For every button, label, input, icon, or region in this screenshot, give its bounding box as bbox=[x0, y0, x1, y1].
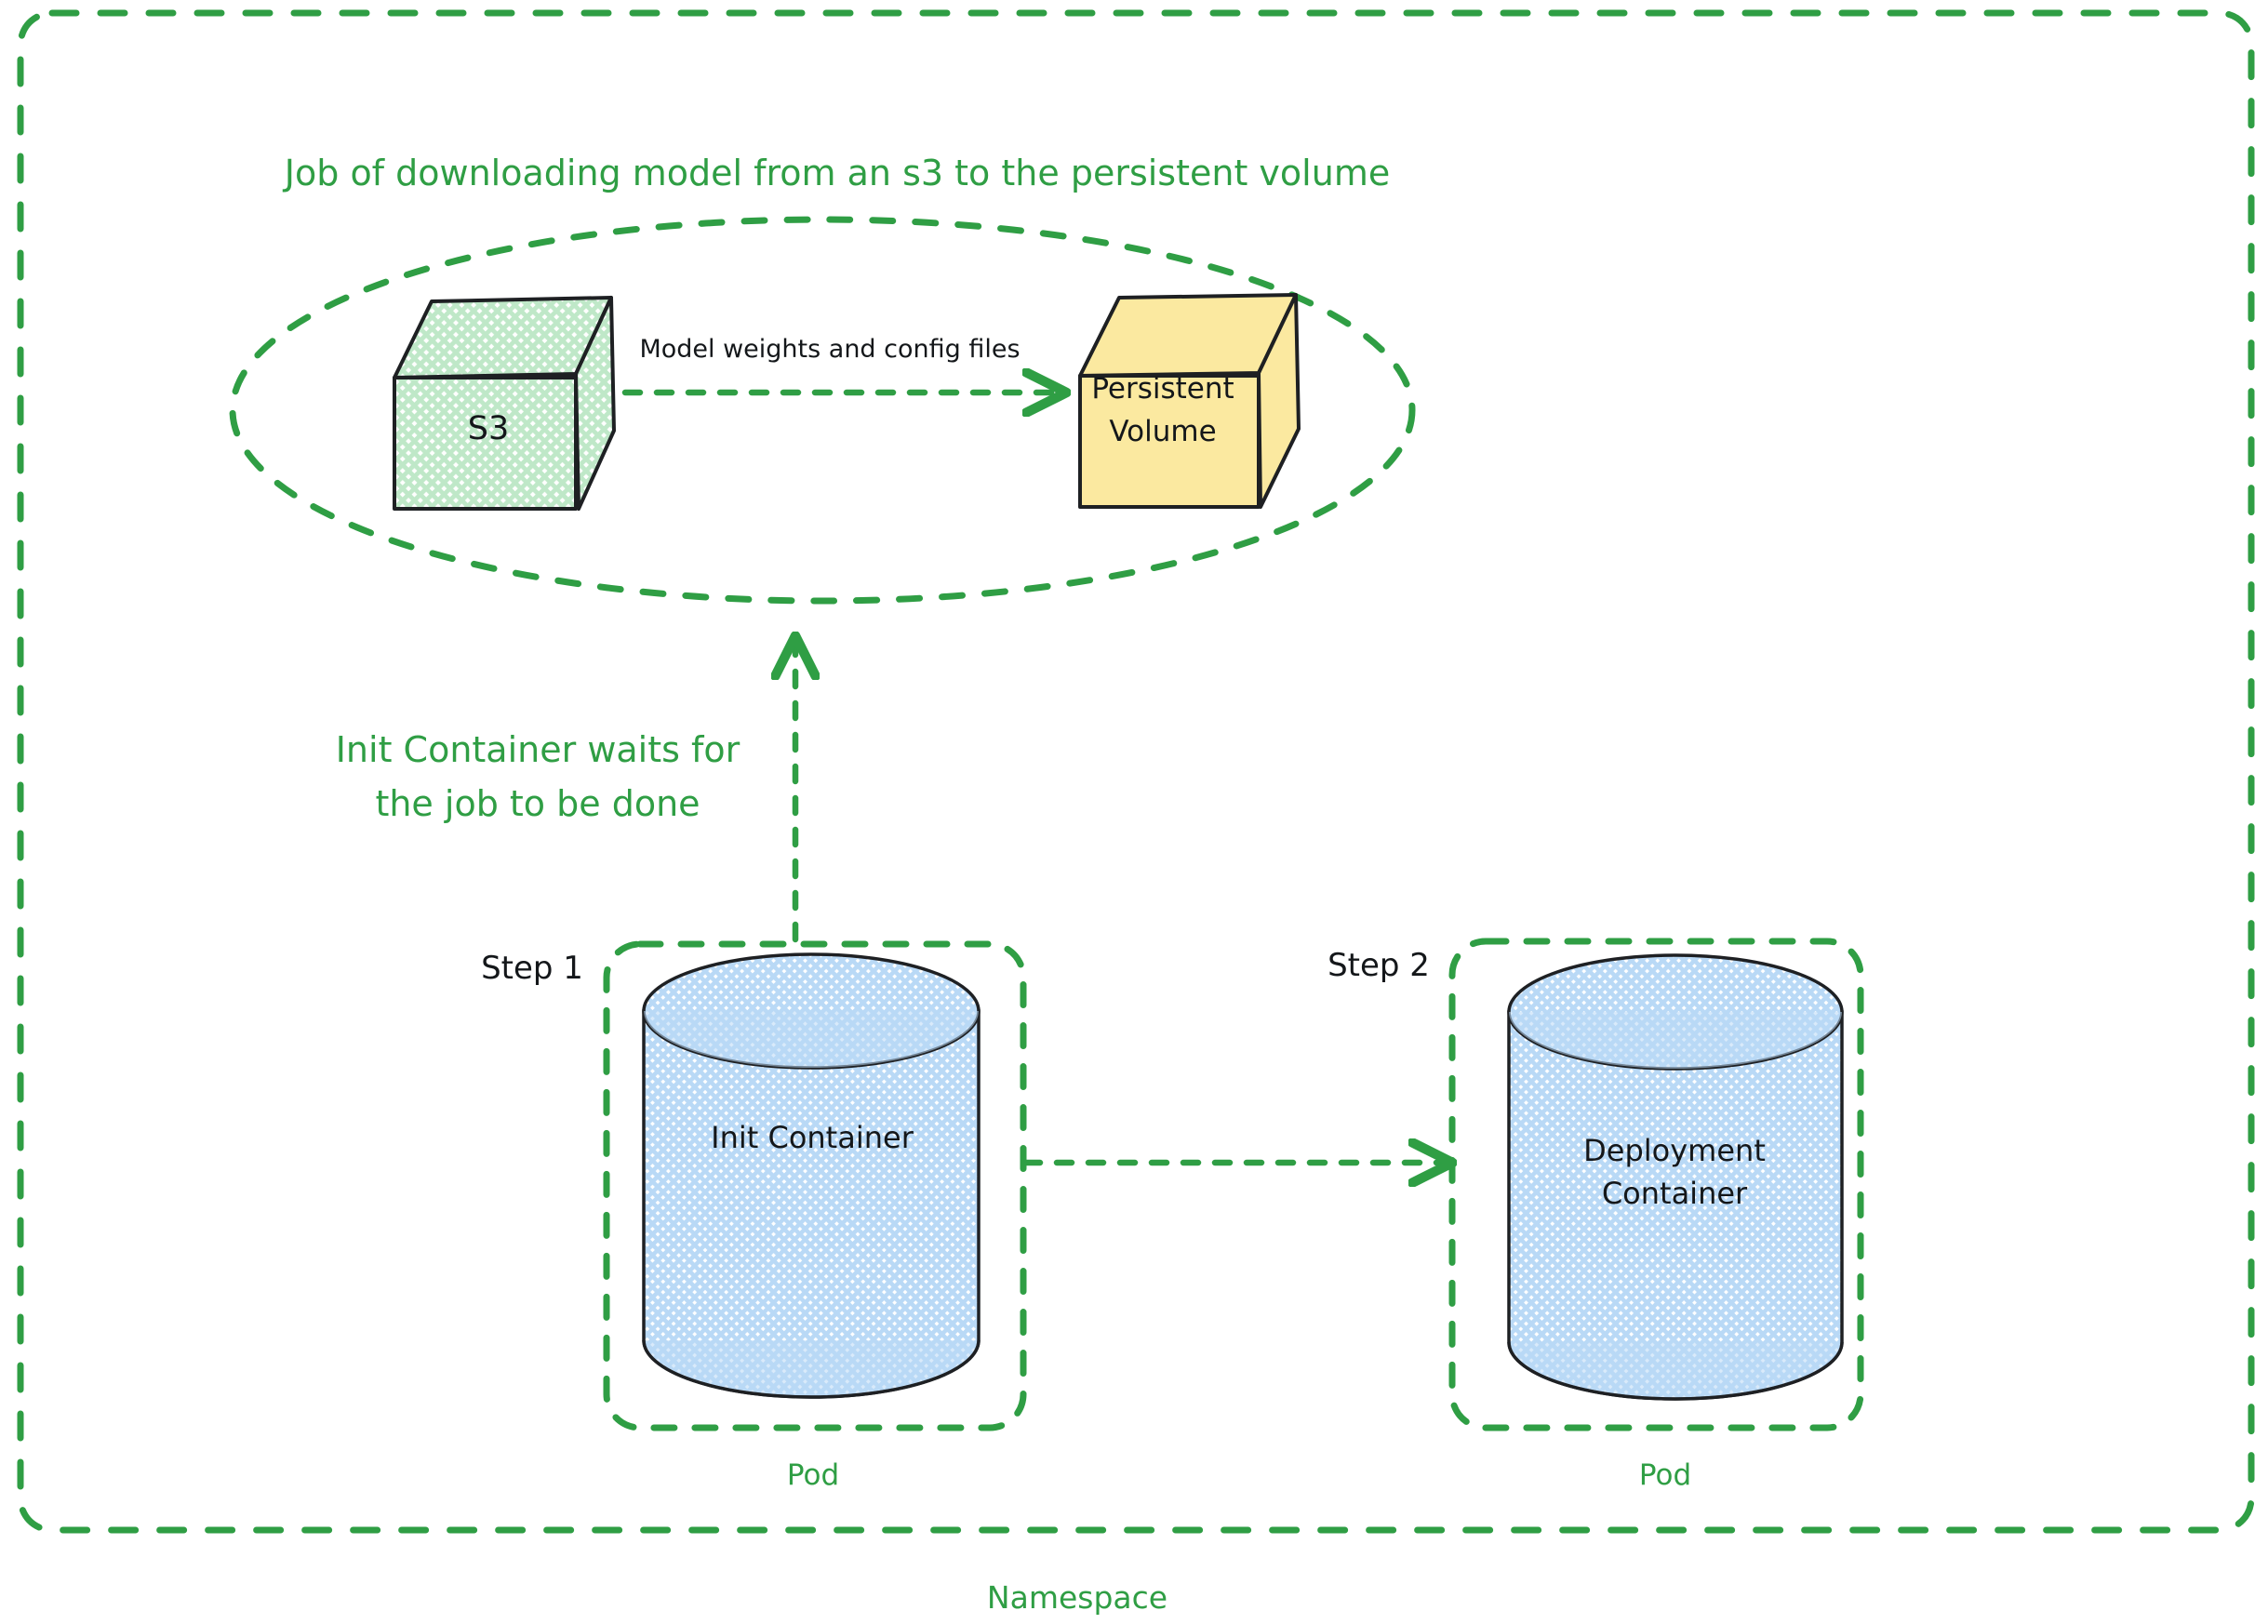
pod-2-label: Pod bbox=[1639, 1458, 1691, 1494]
persistent-volume-label-line2: Volume bbox=[1109, 415, 1216, 450]
model-weights-flow-label: Model weights and config files bbox=[639, 335, 1020, 366]
deployment-container-label-line1: Deployment bbox=[1583, 1133, 1766, 1169]
step-2-label: Step 2 bbox=[1327, 947, 1430, 985]
s3-cube-label: S3 bbox=[468, 409, 510, 449]
deployment-container-label-line2: Container bbox=[1602, 1176, 1747, 1212]
pod-1-label: Pod bbox=[787, 1458, 839, 1494]
init-wait-note-line1: Init Container waits for bbox=[336, 728, 740, 771]
step-1-label: Step 1 bbox=[481, 950, 583, 988]
diagram-vector-layer bbox=[0, 0, 2268, 1624]
namespace-label: Namespace bbox=[987, 1579, 1167, 1617]
s3-cube bbox=[394, 298, 614, 509]
namespace-boundary bbox=[20, 13, 2251, 1530]
persistent-volume-label-line1: Persistent bbox=[1091, 372, 1234, 407]
diagram-canvas: Job of downloading model from an s3 to t… bbox=[0, 0, 2268, 1624]
init-container-label: Init Container bbox=[711, 1120, 914, 1156]
init-wait-note-line2: the job to be done bbox=[375, 782, 700, 825]
job-title-label: Job of downloading model from an s3 to t… bbox=[285, 152, 1390, 194]
init-container-cylinder bbox=[644, 954, 979, 1397]
